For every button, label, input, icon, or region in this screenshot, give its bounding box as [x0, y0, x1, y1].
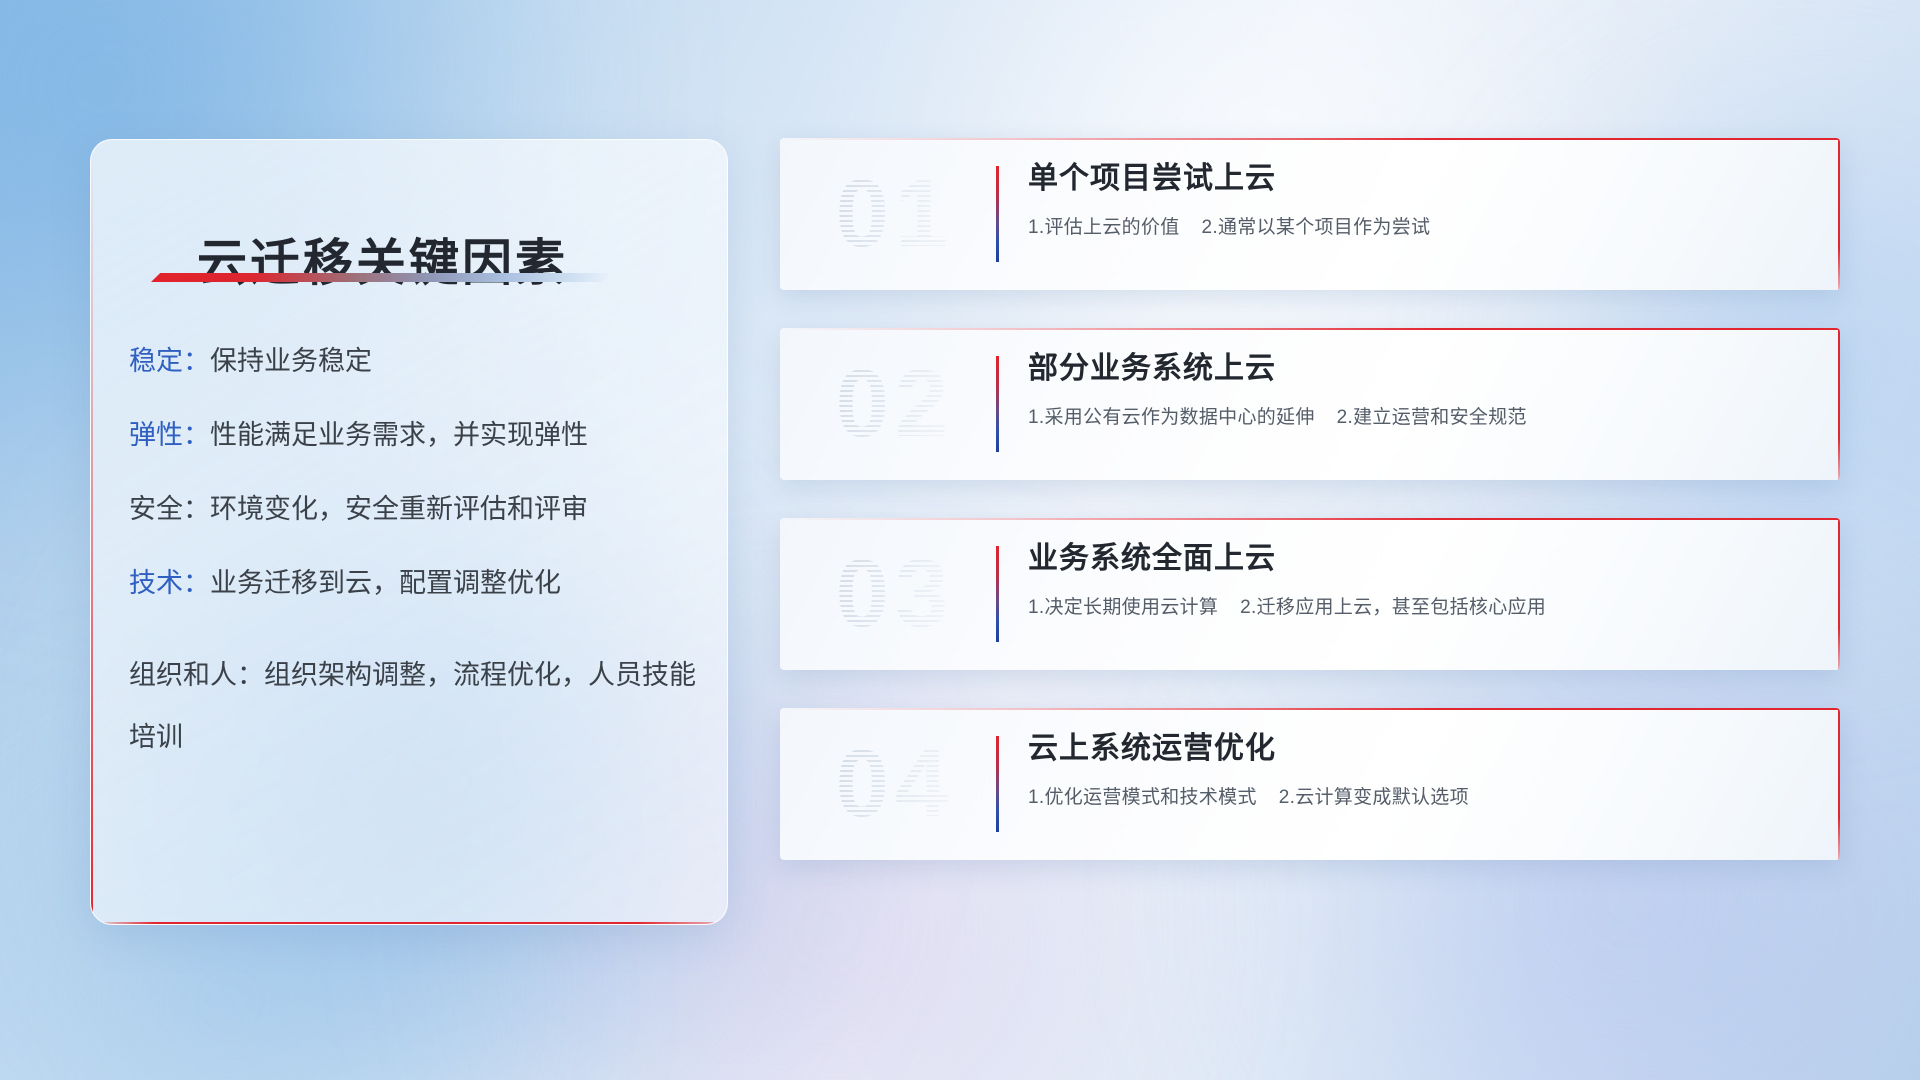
fact-label: 安全： — [129, 494, 210, 524]
stage-card[interactable]: 02 部分业务系统上云 1.采用公有云作为数据中心的延伸2.建立运营和安全规范 — [780, 328, 1840, 480]
fact-label: 稳定： — [129, 346, 210, 376]
page-title: 云迁移关键因素 — [197, 223, 568, 295]
stage-point: 1.采用公有云作为数据中心的延伸 — [1028, 407, 1315, 428]
stage-card[interactable]: 03 业务系统全面上云 1.决定长期使用云计算2.迁移应用上云，甚至包括核心应用 — [780, 518, 1840, 670]
fact-label: 技术： — [129, 568, 210, 598]
list-item: 安全：环境变化，安全重新评估和评审 — [129, 496, 701, 523]
stage-card-body: 业务系统全面上云 1.决定长期使用云计算2.迁移应用上云，甚至包括核心应用 — [1028, 540, 1800, 619]
stage-points: 1.优化运营模式和技术模式2.云计算变成默认选项 — [1028, 782, 1800, 809]
stage-accent-bar — [996, 356, 999, 452]
stage-point: 2.建立运营和安全规范 — [1337, 407, 1527, 428]
stage-points: 1.评估上云的价值2.通常以某个项目作为尝试 — [1028, 212, 1800, 239]
fact-value: 业务迁移到云，配置调整优化 — [210, 568, 561, 598]
stage-number: 01 — [810, 150, 980, 278]
migration-stage-cards: 01 单个项目尝试上云 1.评估上云的价值2.通常以某个项目作为尝试 02 部分… — [780, 138, 1840, 898]
stage-accent-bar — [996, 546, 999, 642]
stage-number: 03 — [810, 530, 980, 658]
list-item: 技术：业务迁移到云，配置调整优化 — [129, 570, 701, 597]
stage-title: 部分业务系统上云 — [1028, 350, 1800, 388]
fact-label: 组织和人： — [129, 660, 264, 690]
stage-title: 业务系统全面上云 — [1028, 540, 1800, 578]
list-item: 组织和人：组织架构调整，流程优化，人员技能培训 — [129, 644, 701, 768]
stage-card-body: 部分业务系统上云 1.采用公有云作为数据中心的延伸2.建立运营和安全规范 — [1028, 350, 1800, 429]
key-factors-panel: 云迁移关键因素 稳定：保持业务稳定 弹性：性能满足业务需求，并实现弹性 安全：环… — [90, 139, 728, 925]
stage-point: 2.通常以某个项目作为尝试 — [1202, 217, 1431, 238]
stage-title: 单个项目尝试上云 — [1028, 160, 1800, 198]
stage-title: 云上系统运营优化 — [1028, 730, 1800, 768]
stage-points: 1.决定长期使用云计算2.迁移应用上云，甚至包括核心应用 — [1028, 592, 1800, 619]
stage-point: 1.优化运营模式和技术模式 — [1028, 787, 1257, 808]
slide-stage: 云迁移关键因素 稳定：保持业务稳定 弹性：性能满足业务需求，并实现弹性 安全：环… — [0, 0, 1920, 1080]
stage-point: 2.云计算变成默认选项 — [1279, 787, 1469, 808]
list-item: 稳定：保持业务稳定 — [129, 348, 701, 375]
key-factors-list: 稳定：保持业务稳定 弹性：性能满足业务需求，并实现弹性 安全：环境变化，安全重新… — [129, 348, 701, 768]
fact-value: 保持业务稳定 — [210, 346, 372, 376]
list-item: 弹性：性能满足业务需求，并实现弹性 — [129, 422, 701, 449]
stage-point: 1.评估上云的价值 — [1028, 217, 1180, 238]
stage-accent-bar — [996, 736, 999, 832]
fact-value: 环境变化，安全重新评估和评审 — [210, 494, 588, 524]
stage-card[interactable]: 01 单个项目尝试上云 1.评估上云的价值2.通常以某个项目作为尝试 — [780, 138, 1840, 290]
stage-point: 1.决定长期使用云计算 — [1028, 597, 1218, 618]
stage-card[interactable]: 04 云上系统运营优化 1.优化运营模式和技术模式2.云计算变成默认选项 — [780, 708, 1840, 860]
fact-label: 弹性： — [129, 420, 210, 450]
fact-value: 性能满足业务需求，并实现弹性 — [210, 420, 588, 450]
stage-accent-bar — [996, 166, 999, 262]
stage-point: 2.迁移应用上云，甚至包括核心应用 — [1240, 597, 1546, 618]
stage-number: 02 — [810, 340, 980, 468]
stage-card-body: 云上系统运营优化 1.优化运营模式和技术模式2.云计算变成默认选项 — [1028, 730, 1800, 809]
stage-points: 1.采用公有云作为数据中心的延伸2.建立运营和安全规范 — [1028, 402, 1800, 429]
title-underline-rule — [151, 273, 611, 282]
stage-card-body: 单个项目尝试上云 1.评估上云的价值2.通常以某个项目作为尝试 — [1028, 160, 1800, 239]
stage-number: 04 — [810, 720, 980, 848]
